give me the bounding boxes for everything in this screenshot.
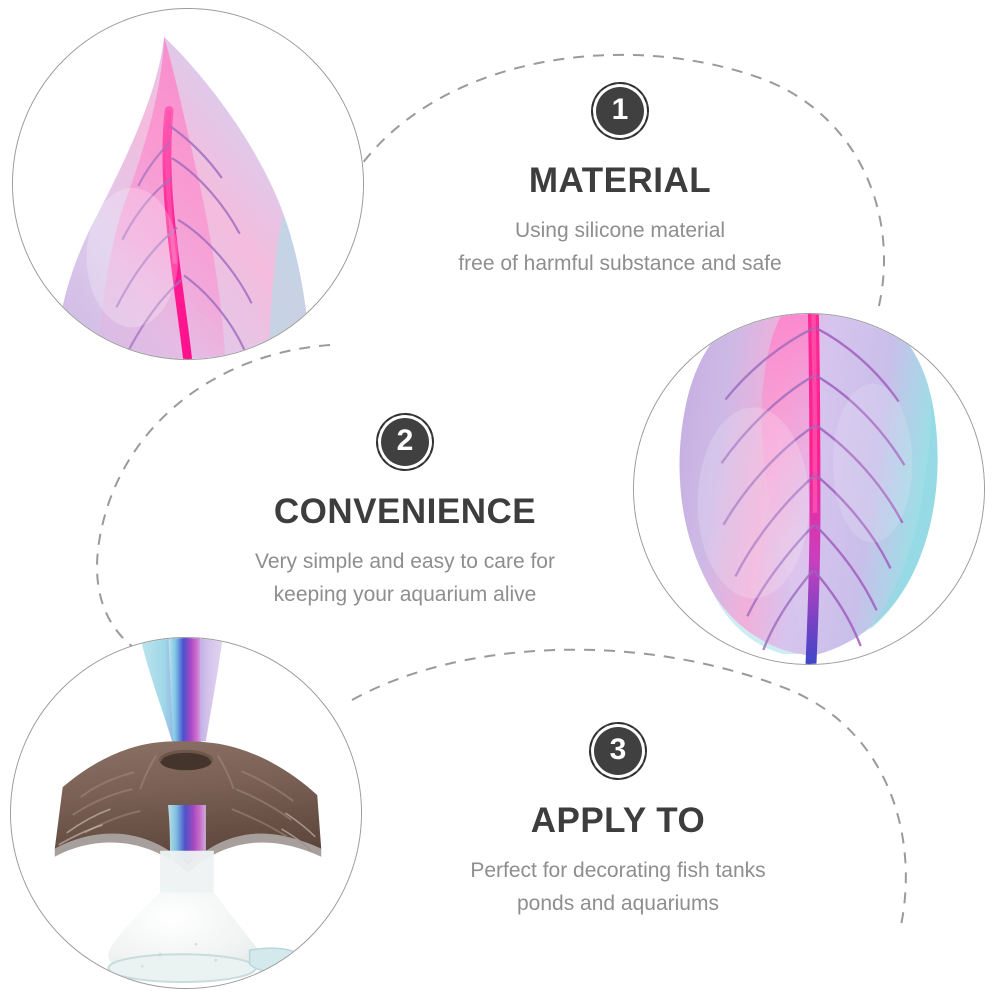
step-badge-2: 2 xyxy=(376,413,434,471)
step-description-3: Perfect for decorating fish tanks ponds … xyxy=(368,854,868,920)
step-description-1: Using silicone material free of harmful … xyxy=(370,214,870,280)
step-description-2-line-1: Very simple and easy to care for xyxy=(155,545,655,578)
step-block-1: 1 MATERIAL Using silicone material free … xyxy=(370,82,870,280)
infographic-canvas: 1 MATERIAL Using silicone material free … xyxy=(0,0,1000,1000)
step-title-2: CONVENIENCE xyxy=(155,493,655,532)
step-description-1-line-2: free of harmful substance and safe xyxy=(370,247,870,280)
step-description-1-line-1: Using silicone material xyxy=(370,214,870,247)
rock-base-illustration xyxy=(11,638,361,988)
step-number-2: 2 xyxy=(397,426,414,456)
step-badge-1: 1 xyxy=(591,82,649,140)
step-description-3-line-1: Perfect for decorating fish tanks xyxy=(368,854,868,887)
product-photo-rock-base xyxy=(10,637,362,989)
step-number-1: 1 xyxy=(612,95,629,125)
leaf-tip-illustration xyxy=(13,9,363,359)
step-block-2: 2 CONVENIENCE Very simple and easy to ca… xyxy=(155,413,655,611)
step-badge-3: 3 xyxy=(589,722,647,780)
step-block-3: 3 APPLY TO Perfect for decorating fish t… xyxy=(368,722,868,920)
step-description-2: Very simple and easy to care for keeping… xyxy=(155,545,655,611)
product-photo-leaf-blade xyxy=(633,313,985,665)
step-description-2-line-2: keeping your aquarium alive xyxy=(155,578,655,611)
step-number-3: 3 xyxy=(610,735,627,765)
product-photo-leaf-tip xyxy=(12,8,364,360)
step-title-3: APPLY TO xyxy=(368,802,868,841)
step-title-1: MATERIAL xyxy=(370,162,870,201)
step-description-3-line-2: ponds and aquariums xyxy=(368,887,868,920)
leaf-blade-illustration xyxy=(634,314,984,664)
